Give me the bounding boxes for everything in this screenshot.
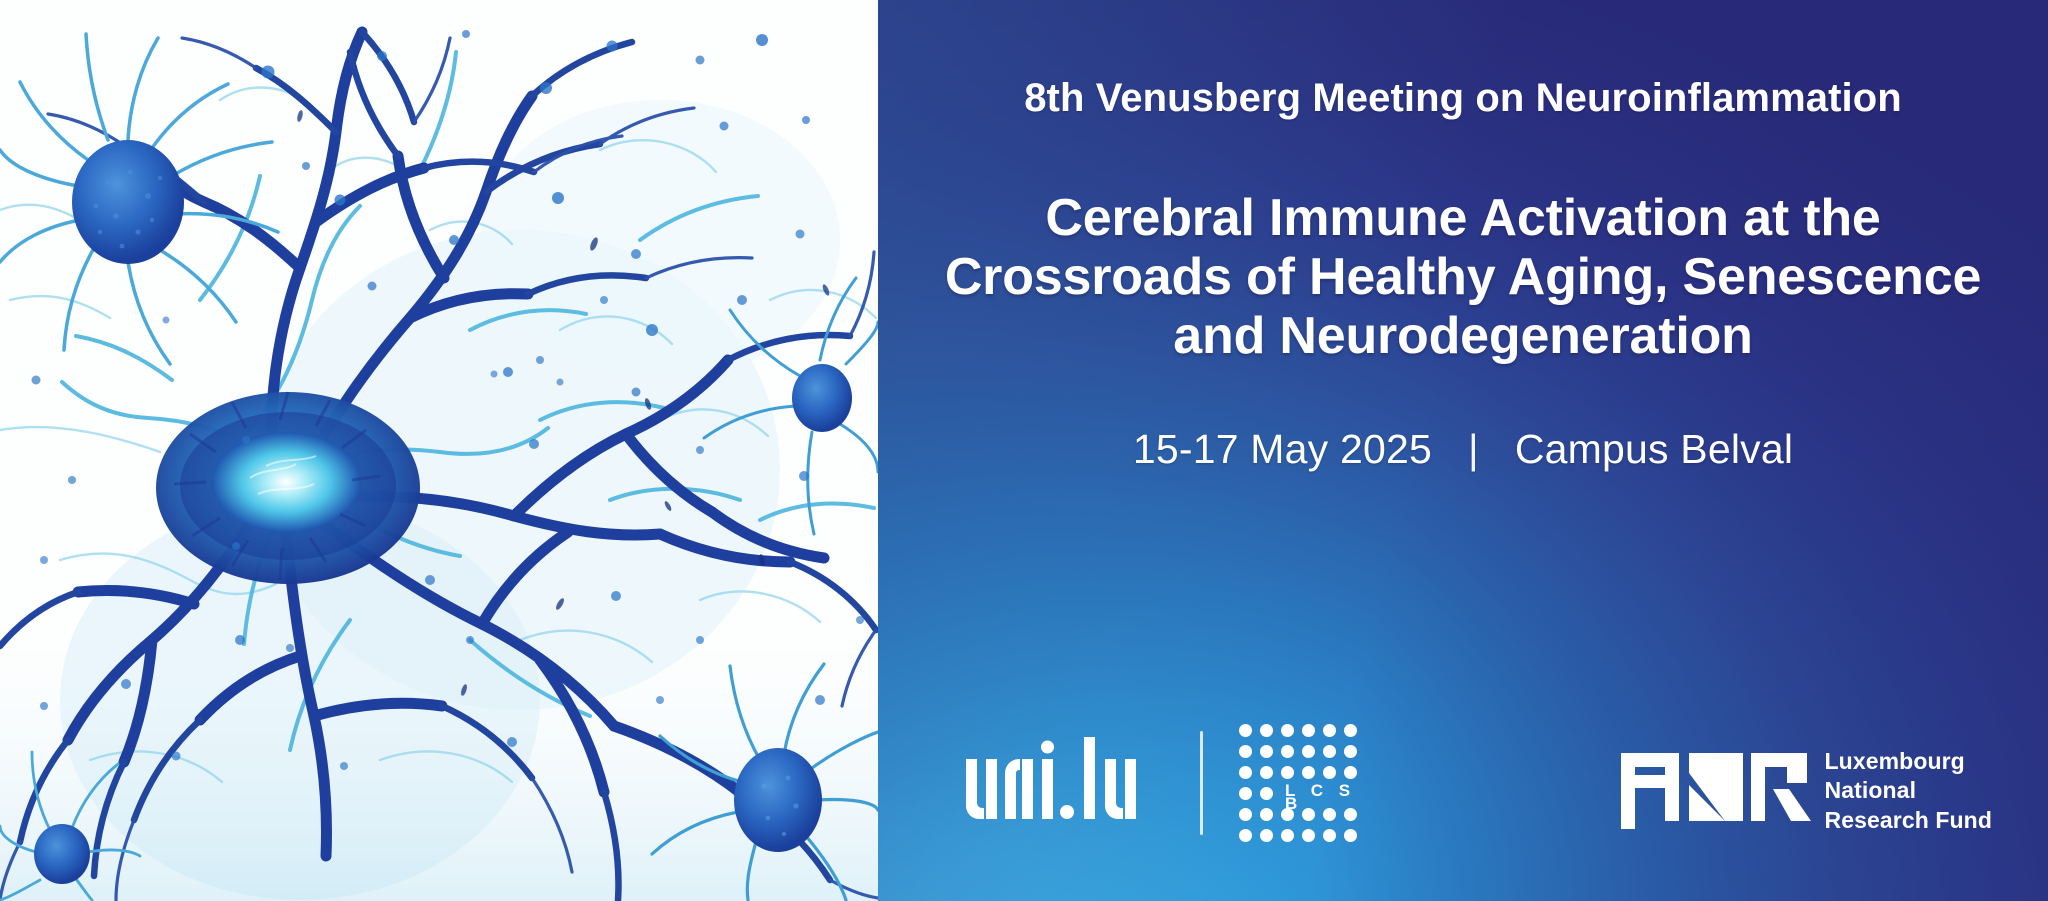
fnr-logo: Luxembourg National Research Fund (1621, 745, 1992, 835)
event-venue: Campus Belval (1515, 426, 1793, 473)
info-panel: 8th Venusberg Meeting on Neuroinflammati… (878, 0, 2048, 901)
fnr-line-3: Research Fund (1825, 806, 1992, 835)
event-dates: 15-17 May 2025 (1133, 426, 1432, 473)
details-separator: | (1468, 426, 1479, 473)
meeting-name: 8th Venusberg Meeting on Neuroinflammati… (1024, 76, 1902, 121)
fnr-mark-icon (1621, 745, 1811, 829)
lcsb-wordmark: L C S B (1285, 784, 1359, 810)
title-line-1: Cerebral Immune Activation at the (933, 189, 1993, 248)
event-details: 15-17 May 2025 | Campus Belval (1133, 426, 1793, 473)
title-line-3: and Neurodegeneration (933, 307, 1993, 366)
page-title: Cerebral Immune Activation at the Crossr… (933, 189, 1993, 366)
conference-banner: 8th Venusberg Meeting on Neuroinflammati… (0, 0, 2048, 901)
fnr-line-1: Luxembourg (1825, 747, 1992, 776)
logo-divider (1200, 731, 1203, 835)
lcsb-logo: L C S B (1239, 724, 1359, 842)
fnr-wordmark: Luxembourg National Research Fund (1825, 747, 1992, 835)
partner-logos-left: L C S B (964, 723, 1359, 843)
title-line-2: Crossroads of Healthy Aging, Senescence (933, 248, 1993, 307)
neuron-artwork (0, 0, 878, 901)
logo-strip: L C S B (878, 719, 2048, 839)
fnr-line-2: National (1825, 776, 1992, 805)
unilu-logo (964, 737, 1160, 829)
